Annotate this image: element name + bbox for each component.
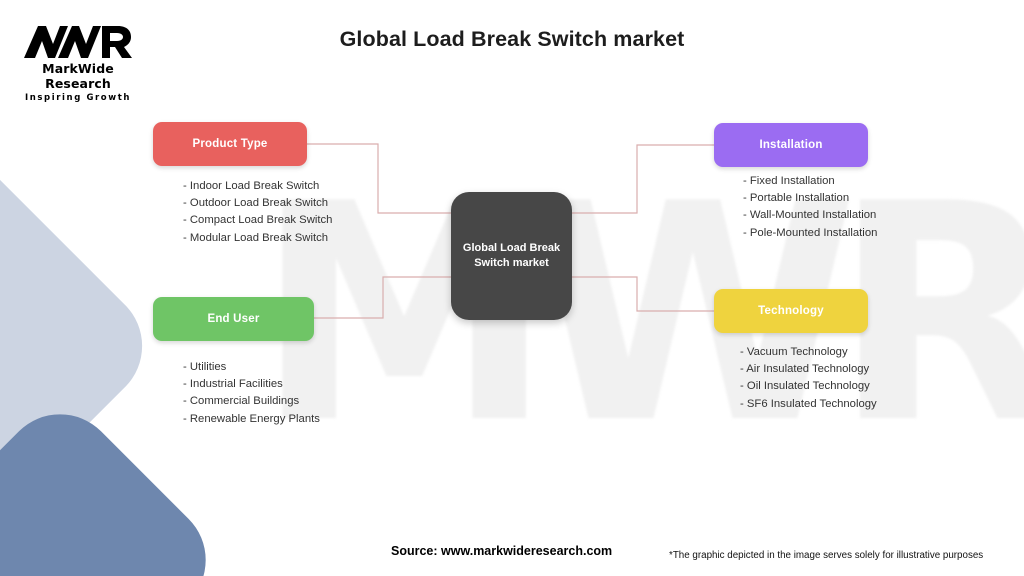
branch-header-end-user[interactable]: End User <box>153 297 314 341</box>
source-label: Source: www.markwideresearch.com <box>391 544 612 558</box>
list-item: - Fixed Installation <box>743 173 877 190</box>
list-item: - Renewable Energy Plants <box>183 411 320 428</box>
branch-label-installation: Installation <box>759 139 822 151</box>
branch-header-installation[interactable]: Installation <box>714 123 868 167</box>
branch-items-technology: - Vacuum Technology - Air Insulated Tech… <box>740 344 877 413</box>
branch-header-product-type[interactable]: Product Type <box>153 122 307 166</box>
list-item: - Wall-Mounted Installation <box>743 207 877 224</box>
branch-label-end-user: End User <box>207 313 259 325</box>
list-item: - Utilities <box>183 359 320 376</box>
list-item: - Portable Installation <box>743 190 877 207</box>
branch-label-technology: Technology <box>758 305 824 317</box>
branch-items-product-type: - Indoor Load Break Switch - Outdoor Loa… <box>183 178 332 247</box>
list-item: - Modular Load Break Switch <box>183 230 332 247</box>
list-item: - Compact Load Break Switch <box>183 212 332 229</box>
list-item: - Outdoor Load Break Switch <box>183 195 332 212</box>
branch-items-installation: - Fixed Installation - Portable Installa… <box>743 173 877 242</box>
list-item: - Air Insulated Technology <box>740 361 877 378</box>
center-node: Global Load Break Switch market <box>451 192 572 320</box>
disclaimer-label: *The graphic depicted in the image serve… <box>669 550 983 561</box>
list-item: - Commercial Buildings <box>183 393 320 410</box>
list-item: - Vacuum Technology <box>740 344 877 361</box>
list-item: - Pole-Mounted Installation <box>743 225 877 242</box>
branch-label-product-type: Product Type <box>192 138 267 150</box>
list-item: - Indoor Load Break Switch <box>183 178 332 195</box>
list-item: - Oil Insulated Technology <box>740 378 877 395</box>
branch-header-technology[interactable]: Technology <box>714 289 868 333</box>
infographic-canvas: MWR MarkWide Research Inspiring Growth G… <box>0 0 1024 576</box>
branch-items-end-user: - Utilities - Industrial Facilities - Co… <box>183 359 320 428</box>
list-item: - SF6 Insulated Technology <box>740 396 877 413</box>
list-item: - Industrial Facilities <box>183 376 320 393</box>
